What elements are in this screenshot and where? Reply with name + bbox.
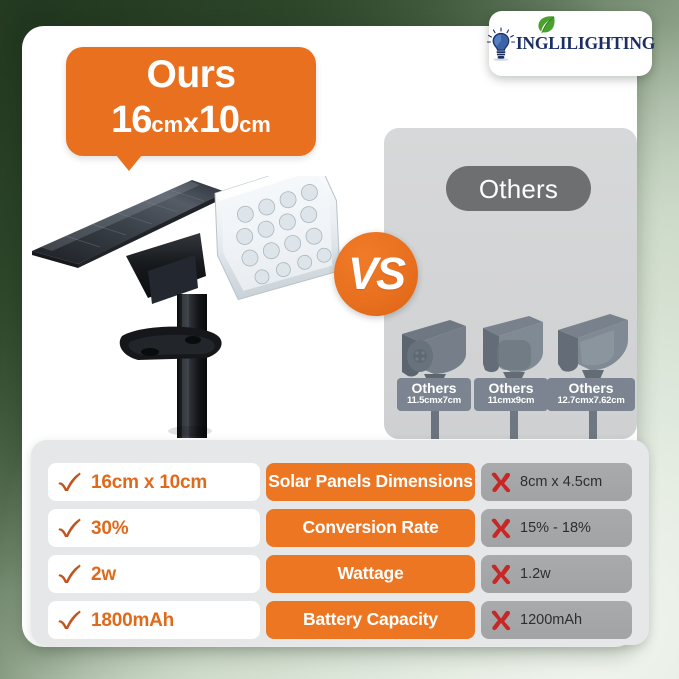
rival-size-1: 11.5cmx7cm	[399, 396, 469, 407]
ours-dim-a-unit: cm	[151, 112, 183, 137]
ours-value-0: 16cm x 10cm	[91, 473, 207, 492]
rival-name-2: Others	[476, 381, 546, 396]
others-value-1: 15% - 18%	[520, 521, 591, 536]
rival-light-3: Others 12.7cmx7.62cm	[548, 294, 634, 439]
lightbulb-icon	[486, 27, 516, 61]
ours-cell-3: 1800mAh	[48, 601, 260, 639]
feature-label-2: Wattage	[337, 565, 403, 583]
vs-label: VS	[348, 251, 404, 296]
table-row: 2wWattage1.2w	[48, 555, 632, 593]
ours-title: Ours	[66, 55, 316, 94]
others-panel: Others Others 11.5cmx7cm	[384, 128, 637, 439]
table-row: 16cm x 10cmSolar Panels Dimensions8cm x …	[48, 463, 632, 501]
infographic-canvas: INGLILIGHTING Ours 16cmx10cm	[0, 0, 679, 679]
others-heading-label: Others	[479, 176, 558, 202]
ours-value-3: 1800mAh	[91, 611, 174, 630]
ours-cell-0: 16cm x 10cm	[48, 463, 260, 501]
rival-size-2: 11cmx9cm	[476, 396, 546, 407]
feature-cell-1: Conversion Rate	[266, 509, 475, 547]
cross-icon	[489, 563, 513, 585]
rival-size-3: 12.7cmx7.62cm	[549, 396, 633, 407]
rival-plaque-3: Others 12.7cmx7.62cm	[547, 378, 635, 411]
ours-dim-a: 16	[111, 99, 151, 141]
others-value-3: 1200mAh	[520, 613, 582, 628]
ours-callout-badge: Ours 16cmx10cm	[66, 47, 316, 156]
comparison-rows: 16cm x 10cmSolar Panels Dimensions8cm x …	[48, 463, 632, 639]
feature-cell-0: Solar Panels Dimensions	[266, 463, 475, 501]
ours-dimensions: 16cmx10cm	[66, 101, 316, 139]
feature-cell-3: Battery Capacity	[266, 601, 475, 639]
comparison-table: 16cm x 10cmSolar Panels Dimensions8cm x …	[31, 440, 649, 645]
feature-label-3: Battery Capacity	[303, 611, 438, 629]
ours-times: x	[183, 107, 199, 138]
leaf-icon	[534, 15, 556, 40]
ours-dim-b: 10	[199, 99, 239, 141]
table-row: 1800mAhBattery Capacity1200mAh	[48, 601, 632, 639]
cross-icon	[489, 471, 513, 493]
rival-name-3: Others	[549, 381, 633, 396]
feature-label-1: Conversion Rate	[302, 519, 438, 537]
check-icon	[57, 563, 83, 585]
table-row: 30%Conversion Rate15% - 18%	[48, 509, 632, 547]
others-value-0: 8cm x 4.5cm	[520, 475, 602, 490]
rival-plaque-1: Others 11.5cmx7cm	[397, 378, 471, 411]
rival-light-2: Others 11cmx9cm	[471, 294, 551, 439]
others-cell-0: 8cm x 4.5cm	[481, 463, 632, 501]
vs-badge: VS	[334, 232, 418, 316]
others-heading: Others	[446, 166, 591, 211]
ours-dim-b-unit: cm	[239, 112, 271, 137]
check-icon	[57, 609, 83, 631]
ours-value-1: 30%	[91, 519, 128, 538]
others-value-2: 1.2w	[520, 567, 551, 582]
feature-cell-2: Wattage	[266, 555, 475, 593]
rival-plaque-2: Others 11cmx9cm	[474, 378, 548, 411]
check-icon	[57, 517, 83, 539]
check-icon	[57, 471, 83, 493]
brand-logo-card: INGLILIGHTING	[489, 11, 652, 76]
ours-value-2: 2w	[91, 565, 116, 584]
others-cell-2: 1.2w	[481, 555, 632, 593]
cross-icon	[489, 609, 513, 631]
others-cell-1: 15% - 18%	[481, 509, 632, 547]
ours-cell-1: 30%	[48, 509, 260, 547]
feature-label-0: Solar Panels Dimensions	[268, 473, 473, 491]
our-solar-spotlight-image	[30, 176, 350, 438]
others-cell-3: 1200mAh	[481, 601, 632, 639]
ours-cell-2: 2w	[48, 555, 260, 593]
cross-icon	[489, 517, 513, 539]
rival-name-1: Others	[399, 381, 469, 396]
